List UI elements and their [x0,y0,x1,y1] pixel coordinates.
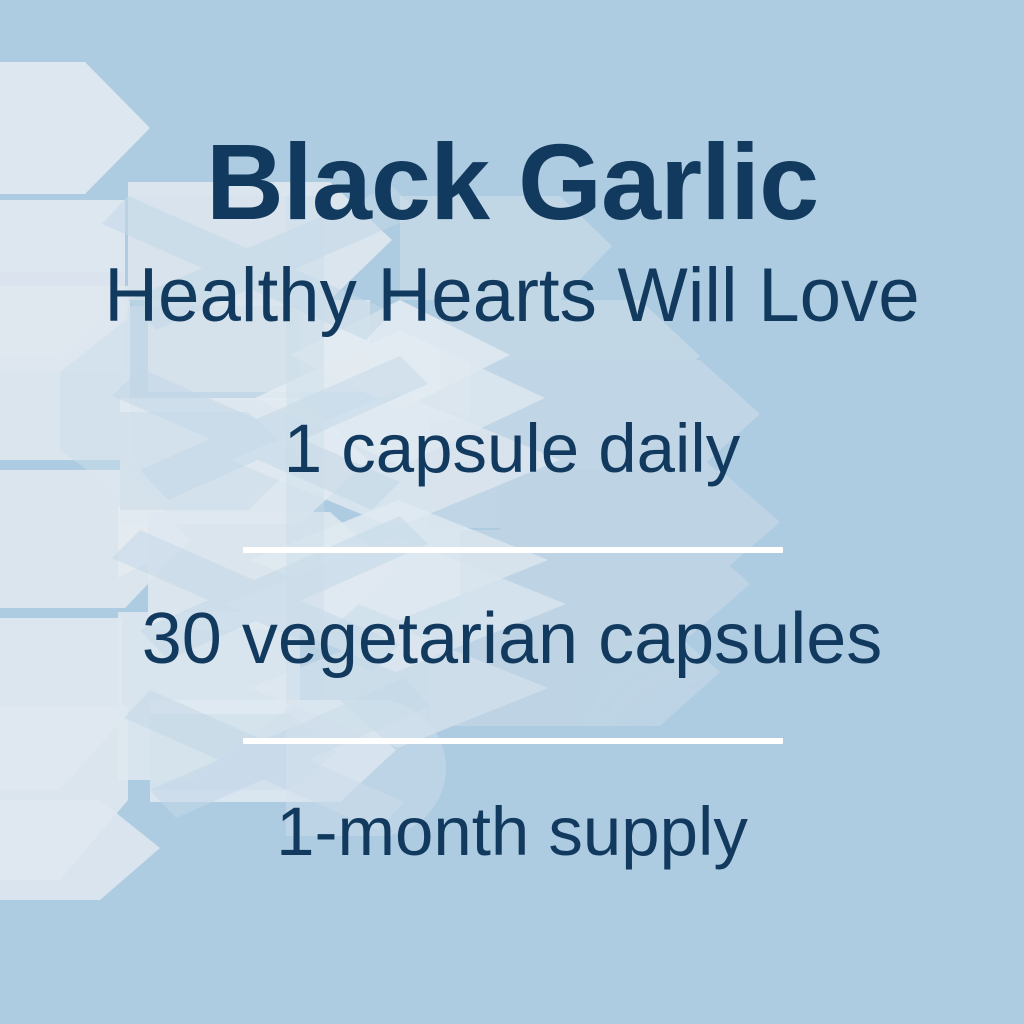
card-content: Black Garlic Healthy Hearts Will Love 1 … [0,0,1024,1024]
divider-line-1 [243,547,783,553]
product-info-card: Black Garlic Healthy Hearts Will Love 1 … [0,0,1024,1024]
product-tagline: Healthy Hearts Will Love [10,258,1014,334]
fact-count: 30 vegetarian capsules [0,603,1024,675]
fact-supply-duration: 1-month supply [0,797,1024,866]
product-title: Black Garlic [0,128,1024,236]
divider-line-2 [243,738,783,744]
fact-dosage: 1 capsule daily [0,414,1024,483]
